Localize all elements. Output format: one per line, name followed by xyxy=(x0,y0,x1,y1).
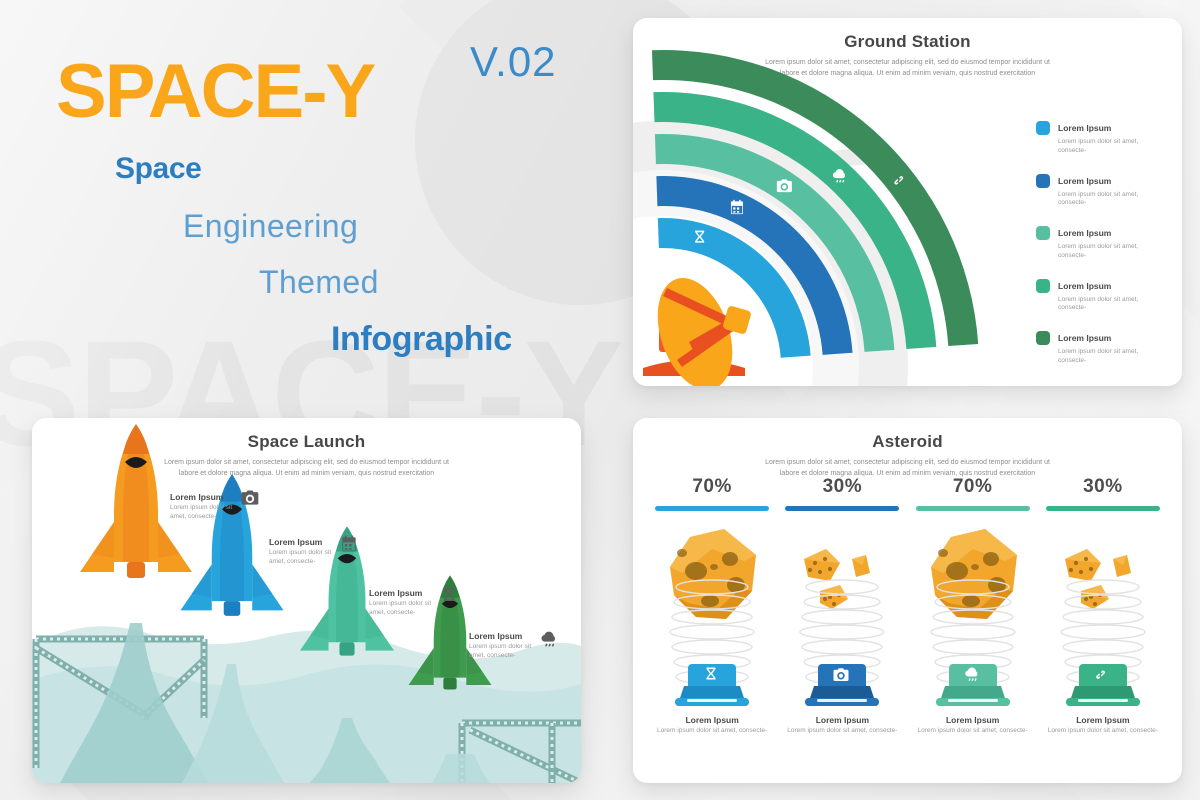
calendar-icon xyxy=(339,534,359,554)
legend-item-4[interactable]: Lorem Ipsum Lorem ipsum dolor sit amet, … xyxy=(1036,276,1166,314)
asteroid-pedestal[interactable] xyxy=(1069,664,1137,708)
legend-heading: Lorem Ipsum xyxy=(1058,176,1111,186)
ground-station-title: Ground Station xyxy=(633,32,1182,52)
asteroid-progress-bar xyxy=(655,506,769,511)
launch-label-subtext: Lorem ipsum dolor sit amet, consecte- xyxy=(369,600,439,618)
cloud-rain-icon xyxy=(539,630,559,650)
legend-item-3[interactable]: Lorem Ipsum Lorem ipsum dolor sit amet, … xyxy=(1036,223,1166,261)
version-label: V.02 xyxy=(470,38,557,86)
asteroid-columns: 70% xyxy=(647,476,1168,776)
slide-canvas: SPACE-Y SPACE-Y V.02 Space Engineering T… xyxy=(0,0,1200,800)
asteroid-pedestal[interactable] xyxy=(678,664,746,708)
panel-space-launch[interactable]: Space Launch Lorem ipsum dolor sit amet,… xyxy=(32,418,581,783)
legend-subtext: Lorem ipsum dolor sit amet, consecte- xyxy=(1058,348,1166,366)
legend-heading: Lorem Ipsum xyxy=(1058,123,1111,133)
launch-label-1[interactable]: Lorem Ipsum Lorem ipsum dolor sit amet, … xyxy=(170,492,240,522)
legend-item-2[interactable]: Lorem Ipsum Lorem ipsum dolor sit amet, … xyxy=(1036,171,1166,209)
subtitle-line-3: Themed xyxy=(259,264,379,301)
launch-label-heading: Lorem Ipsum xyxy=(269,537,339,547)
asteroid-progress-bar xyxy=(1046,506,1160,511)
asteroid-progress-bar xyxy=(916,506,1030,511)
page-title: SPACE-Y xyxy=(56,56,374,128)
asteroid-caption-subtext: Lorem ipsum dolor sit amet, consecte- xyxy=(1048,727,1158,736)
legend-subtext: Lorem ipsum dolor sit amet, consecte- xyxy=(1058,138,1166,156)
asteroid-rock xyxy=(1043,515,1163,660)
asteroid-caption-subtext: Lorem ipsum dolor sit amet, consecte- xyxy=(657,727,767,736)
asteroid-rock xyxy=(913,515,1033,660)
asteroid-caption-heading: Lorem Ipsum xyxy=(1048,715,1158,725)
hourglass-icon xyxy=(439,586,459,606)
asteroid-caption: Lorem Ipsum Lorem ipsum dolor sit amet, … xyxy=(918,715,1028,736)
asteroid-caption-subtext: Lorem ipsum dolor sit amet, consecte- xyxy=(787,727,897,736)
subtitle-line-2: Engineering xyxy=(183,208,358,245)
asteroid-column-1[interactable]: 70% xyxy=(647,476,777,776)
asteroid-pedestal[interactable] xyxy=(939,664,1007,708)
camera-icon xyxy=(240,488,260,508)
subtitle-line-1: Space xyxy=(115,152,201,186)
launch-icon-1[interactable] xyxy=(240,488,260,508)
asteroid-column-4[interactable]: 30% xyxy=(1038,476,1168,776)
asteroid-caption: Lorem Ipsum Lorem ipsum dolor sit amet, … xyxy=(657,715,767,736)
legend-subtext: Lorem ipsum dolor sit amet, consecte- xyxy=(1058,191,1166,209)
asteroid-title: Asteroid xyxy=(633,432,1182,452)
legend-swatch xyxy=(1036,174,1050,188)
asteroid-caption-heading: Lorem Ipsum xyxy=(787,715,897,725)
link-icon xyxy=(1093,666,1111,684)
launch-label-heading: Lorem Ipsum xyxy=(170,492,240,502)
launch-label-subtext: Lorem ipsum dolor sit amet, consecte- xyxy=(269,549,339,567)
asteroid-column-3[interactable]: 70% xyxy=(908,476,1038,776)
launch-label-3[interactable]: Lorem Ipsum Lorem ipsum dolor sit amet, … xyxy=(369,588,439,618)
launch-icon-2[interactable] xyxy=(339,534,359,554)
asteroid-caption: Lorem Ipsum Lorem ipsum dolor sit amet, … xyxy=(1048,715,1158,736)
asteroid-progress-bar xyxy=(785,506,899,511)
legend-heading: Lorem Ipsum xyxy=(1058,228,1111,238)
legend-heading: Lorem Ipsum xyxy=(1058,281,1111,291)
legend-swatch xyxy=(1036,121,1050,135)
asteroid-caption: Lorem Ipsum Lorem ipsum dolor sit amet, … xyxy=(787,715,897,736)
asteroid-caption-heading: Lorem Ipsum xyxy=(918,715,1028,725)
launch-label-4[interactable]: Lorem Ipsum Lorem ipsum dolor sit amet, … xyxy=(469,631,539,661)
hourglass-icon xyxy=(702,666,720,684)
space-launch-illustration xyxy=(32,418,581,783)
cloud-rain-icon xyxy=(963,666,981,684)
launch-icon-3[interactable] xyxy=(439,586,459,606)
legend-subtext: Lorem ipsum dolor sit amet, consecte- xyxy=(1058,243,1166,261)
asteroid-rock xyxy=(652,515,772,660)
panel-asteroid[interactable]: Asteroid Lorem ipsum dolor sit amet, con… xyxy=(633,418,1182,783)
legend-swatch xyxy=(1036,279,1050,293)
asteroid-percent: 70% xyxy=(692,476,732,498)
panel-ground-station[interactable]: Ground Station Lorem ipsum dolor sit ame… xyxy=(633,18,1182,386)
asteroid-pedestal[interactable] xyxy=(808,664,876,708)
legend-item-5[interactable]: Lorem Ipsum Lorem ipsum dolor sit amet, … xyxy=(1036,328,1166,366)
hero-title-block: SPACE-Y V.02 Space Engineering Themed In… xyxy=(0,0,620,400)
asteroid-percent: 30% xyxy=(823,476,863,498)
subtitle-line-4: Infographic xyxy=(331,320,512,359)
legend-heading: Lorem Ipsum xyxy=(1058,333,1111,343)
legend-swatch xyxy=(1036,226,1050,240)
asteroid-rock xyxy=(782,515,902,660)
launch-label-heading: Lorem Ipsum xyxy=(469,631,539,641)
asteroid-percent: 70% xyxy=(953,476,993,498)
launch-label-subtext: Lorem ipsum dolor sit amet, consecte- xyxy=(170,504,240,522)
asteroid-column-2[interactable]: 30% xyxy=(777,476,907,776)
legend-item-1[interactable]: Lorem Ipsum Lorem ipsum dolor sit amet, … xyxy=(1036,118,1166,156)
launch-label-subtext: Lorem ipsum dolor sit amet, consecte- xyxy=(469,643,539,661)
asteroid-caption-heading: Lorem Ipsum xyxy=(657,715,767,725)
legend-swatch xyxy=(1036,331,1050,345)
asteroid-caption-subtext: Lorem ipsum dolor sit amet, consecte- xyxy=(918,727,1028,736)
ground-station-legend: Lorem Ipsum Lorem ipsum dolor sit amet, … xyxy=(1036,118,1166,381)
camera-icon xyxy=(832,666,850,684)
ground-station-radar-graphic xyxy=(633,76,1063,386)
asteroid-percent: 30% xyxy=(1083,476,1123,498)
launch-label-2[interactable]: Lorem Ipsum Lorem ipsum dolor sit amet, … xyxy=(269,537,339,567)
legend-subtext: Lorem ipsum dolor sit amet, consecte- xyxy=(1058,296,1166,314)
launch-icon-4[interactable] xyxy=(539,630,559,650)
launch-label-heading: Lorem Ipsum xyxy=(369,588,439,598)
